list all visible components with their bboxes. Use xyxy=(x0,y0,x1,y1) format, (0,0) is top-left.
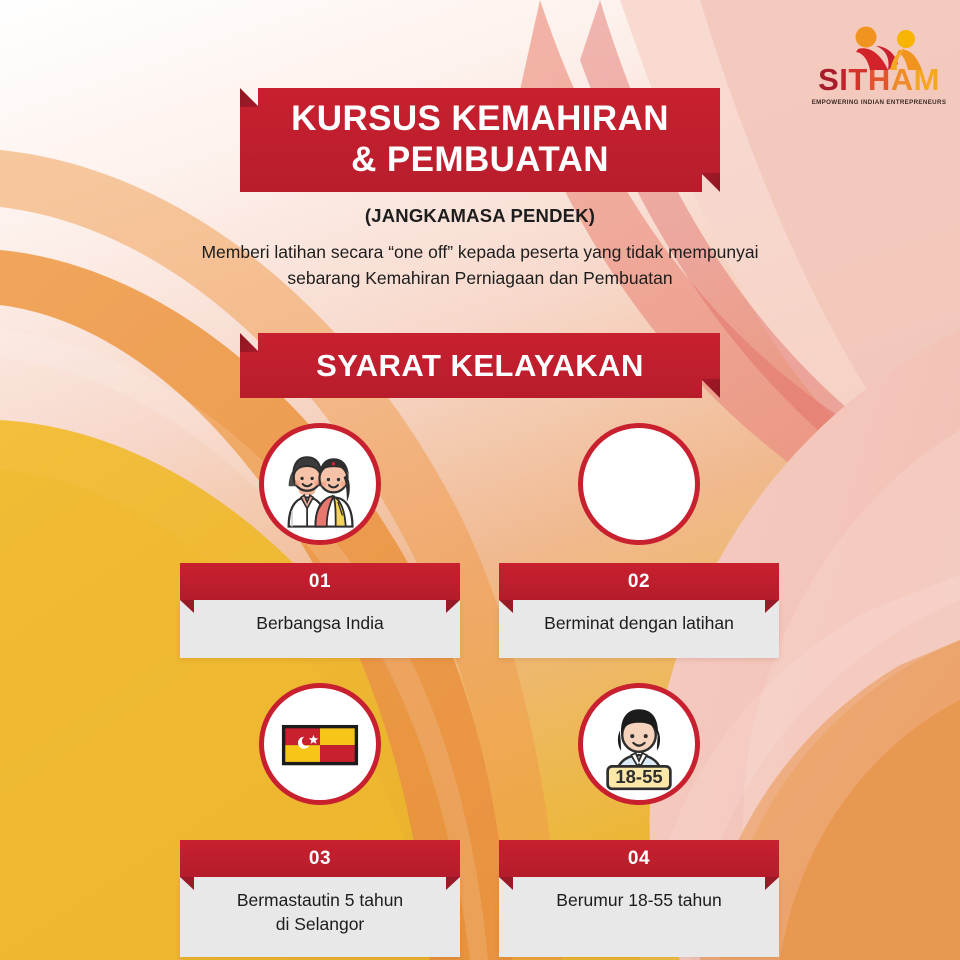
criteria-number-4: 04 xyxy=(628,848,650,870)
criteria-text-2: Berminat dengan latihan xyxy=(499,600,779,658)
criteria-text-4: Berumur 18-55 tahun xyxy=(499,877,779,957)
criteria-number-header-3: 03 xyxy=(180,840,460,877)
criteria-number-header-1: 01 xyxy=(180,563,460,600)
criteria-icon-circle-1 xyxy=(259,423,381,545)
main-title-plate: KURSUS KEMAHIRAN & PEMBUATAN xyxy=(240,88,720,192)
description-line-2: sebarang Kemahiran Perniagaan dan Pembua… xyxy=(110,266,850,292)
sitham-logo: SITHAM EMPOWERING INDIAN ENTREPRENEURS xyxy=(806,24,952,112)
selangor-flag-icon xyxy=(264,688,376,800)
eligibility-section-banner: SYARAT KELAYAKAN xyxy=(240,333,720,398)
eligibility-banner-plate: SYARAT KELAYAKAN xyxy=(240,333,720,398)
title-line-1: KURSUS KEMAHIRAN xyxy=(291,99,669,140)
criteria-icon-circle-3 xyxy=(259,683,381,805)
subtitle-duration: (JANGKAMASA PENDEK) xyxy=(0,205,960,227)
indian-couple-icon xyxy=(264,428,376,540)
criteria-number-header-2: 02 xyxy=(499,563,779,600)
age-badge-text: 18-55 xyxy=(615,766,662,787)
criteria-text-3-line-2: di Selangor xyxy=(276,914,365,934)
criteria-card-2: 02 Berminat dengan latihan xyxy=(499,563,779,658)
age-sign-person-icon: 18-55 xyxy=(583,688,695,800)
description-text: Memberi latihan secara “one off” kepada … xyxy=(110,240,850,292)
title-line-2: & PEMBUATAN xyxy=(351,140,609,181)
eligibility-heading: SYARAT KELAYAKAN xyxy=(316,348,644,384)
criteria-number-3: 03 xyxy=(309,848,331,870)
description-line-1: Memberi latihan secara “one off” kepada … xyxy=(110,240,850,266)
criteria-card-3: 03 Bermastautin 5 tahun di Selangor xyxy=(180,840,460,957)
banner-fold-top-left xyxy=(240,88,259,107)
criteria-text-1: Berbangsa India xyxy=(180,600,460,658)
criteria-number-header-4: 04 xyxy=(499,840,779,877)
criteria-icon-circle-2 xyxy=(578,423,700,545)
eligibility-fold-top-left xyxy=(240,333,259,352)
criteria-text-3-line-1: Bermastautin 5 tahun xyxy=(237,890,403,910)
logo-tagline: EMPOWERING INDIAN ENTREPRENEURS xyxy=(806,99,952,106)
main-title-banner: KURSUS KEMAHIRAN & PEMBUATAN xyxy=(240,88,720,192)
criteria-icon-circle-4: 18-55 xyxy=(578,683,700,805)
banner-fold-bottom-right xyxy=(701,173,720,192)
criteria-card-1: 01 Berbangsa India xyxy=(180,563,460,658)
logo-people-icon xyxy=(806,24,952,66)
criteria-number-2: 02 xyxy=(628,571,650,593)
empty-circle-icon xyxy=(583,428,695,540)
eligibility-fold-bottom-right xyxy=(701,379,720,398)
infographic-page: SITHAM EMPOWERING INDIAN ENTREPRENEURS K… xyxy=(0,0,960,960)
criteria-card-4: 04 Berumur 18-55 tahun xyxy=(499,840,779,957)
criteria-text-3: Bermastautin 5 tahun di Selangor xyxy=(180,877,460,957)
criteria-number-1: 01 xyxy=(309,571,331,593)
